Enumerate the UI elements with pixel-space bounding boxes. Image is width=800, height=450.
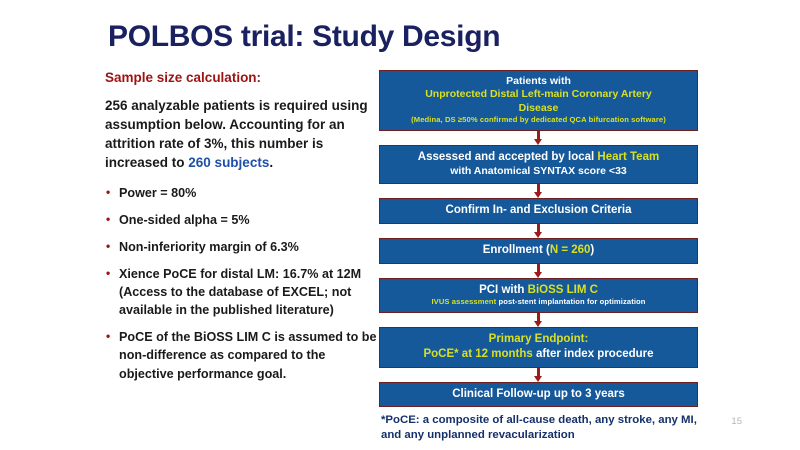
bullet-icon: •: [106, 238, 110, 255]
list-item: • Xience PoCE for distal LM: 16.7% at 12…: [105, 265, 380, 319]
flow-text-segment: Enrollment (: [483, 244, 550, 256]
list-item-label: Xience PoCE for distal LM: 16.7% at 12M …: [119, 267, 361, 317]
slide-number: 15: [731, 416, 742, 427]
flow-box-line: Disease: [385, 102, 692, 115]
arrow-head: [534, 139, 542, 145]
flow-text-segment: Patients with: [506, 75, 571, 87]
flow-box-line: Enrollment (N = 260): [385, 243, 692, 258]
flow-text-segment: with Anatomical SYNTAX score <33: [450, 165, 627, 177]
flow-arrow-3: [379, 264, 698, 278]
list-item: • Power = 80%: [105, 184, 380, 202]
flow-text-segment: Confirm In- and Exclusion Criteria: [446, 204, 632, 216]
flow-text-segment: PoCE* at 12 months: [423, 348, 535, 360]
sample-size-text-part2: .: [269, 155, 273, 170]
list-item: • Non-inferiority margin of 6.3%: [105, 238, 380, 256]
flow-arrow-0: [379, 131, 698, 145]
flow-text-segment: Primary Endpoint:: [489, 333, 589, 345]
arrow-head: [534, 232, 542, 238]
page-title: POLBOS trial: Study Design: [108, 20, 500, 54]
list-item-label: Power = 80%: [119, 186, 196, 200]
flow-box-line: Confirm In- and Exclusion Criteria: [385, 203, 692, 218]
flow-box-line: PCI with BiOSS LIM C: [385, 283, 692, 298]
flow-text-segment: PCI with: [479, 284, 528, 296]
flow-box-clinical-follow-up: Clinical Follow-up up to 3 years: [379, 382, 698, 408]
flow-text-segment: after index procedure: [536, 348, 654, 360]
flow-box-line: with Anatomical SYNTAX score <33: [385, 165, 692, 178]
flow-text-segment: Disease: [519, 102, 559, 114]
flow-arrow-5: [379, 368, 698, 382]
flow-box-line: Clinical Follow-up up to 3 years: [385, 387, 692, 402]
flow-box-enrollment: Enrollment (N = 260): [379, 238, 698, 264]
study-design-flowchart: Patients withUnprotected Distal Left-mai…: [379, 70, 698, 443]
subjects-highlight: 260 subjects: [188, 155, 269, 170]
flow-box-line: Primary Endpoint:: [385, 332, 692, 347]
flow-box-primary-endpoint: Primary Endpoint:PoCE* at 12 months afte…: [379, 327, 698, 367]
flow-text-segment: BiOSS LIM C: [528, 284, 598, 296]
flow-text-segment: post-stent implantation for optimization: [496, 297, 645, 306]
list-item-label: Non-inferiority margin of 6.3%: [119, 240, 299, 254]
flow-text-segment: (Medina, DS ≥50% confirmed by dedicated …: [411, 115, 666, 124]
bullet-icon: •: [106, 265, 110, 282]
arrow-head: [534, 272, 542, 278]
arrow-head: [534, 376, 542, 382]
sample-size-heading: Sample size calculation:: [105, 70, 380, 87]
flow-box-line: IVUS assessment post-stent implantation …: [385, 297, 692, 307]
flow-box-line: Unprotected Distal Left-main Coronary Ar…: [385, 88, 692, 101]
sample-size-paragraph: 256 analyzable patients is required usin…: [105, 96, 380, 173]
flow-box-line: PoCE* at 12 months after index procedure: [385, 347, 692, 362]
flow-box-line: (Medina, DS ≥50% confirmed by dedicated …: [385, 115, 692, 125]
flow-box-pci-bioss-lim-c: PCI with BiOSS LIM CIVUS assessment post…: [379, 278, 698, 313]
arrow-head: [534, 192, 542, 198]
poce-footnote: *PoCE: a composite of all-cause death, a…: [379, 413, 698, 443]
list-item-label: PoCE of the BiOSS LIM C is assumed to be…: [119, 330, 377, 380]
list-item-label: One-sided alpha = 5%: [119, 213, 250, 227]
list-item: • One-sided alpha = 5%: [105, 211, 380, 229]
flow-text-segment: IVUS assessment: [431, 297, 496, 306]
flow-box-patients-with: Patients withUnprotected Distal Left-mai…: [379, 70, 698, 131]
flow-box-line: Patients with: [385, 75, 692, 88]
bullet-icon: •: [106, 328, 110, 345]
flow-text-segment: Heart Team: [597, 151, 659, 163]
flow-text-segment: Unprotected Distal Left-main Coronary Ar…: [425, 88, 652, 100]
flow-text-segment: Clinical Follow-up up to 3 years: [452, 388, 625, 400]
flow-text-segment: N = 260: [550, 244, 591, 256]
sample-size-section: Sample size calculation: 256 analyzable …: [105, 70, 380, 383]
flow-box-line: Assessed and accepted by local Heart Tea…: [385, 150, 692, 165]
assumption-bullet-list: • Power = 80% • One-sided alpha = 5% • N…: [105, 184, 380, 383]
arrow-head: [534, 321, 542, 327]
flow-arrow-2: [379, 224, 698, 238]
bullet-icon: •: [106, 184, 110, 201]
flow-text-segment: ): [590, 244, 594, 256]
list-item: • PoCE of the BiOSS LIM C is assumed to …: [105, 328, 380, 382]
flow-arrow-4: [379, 313, 698, 327]
flow-arrow-1: [379, 184, 698, 198]
flow-box-confirm-criteria: Confirm In- and Exclusion Criteria: [379, 198, 698, 224]
bullet-icon: •: [106, 211, 110, 228]
flow-box-heart-team-assessment: Assessed and accepted by local Heart Tea…: [379, 145, 698, 184]
flow-text-segment: Assessed and accepted by local: [418, 151, 598, 163]
